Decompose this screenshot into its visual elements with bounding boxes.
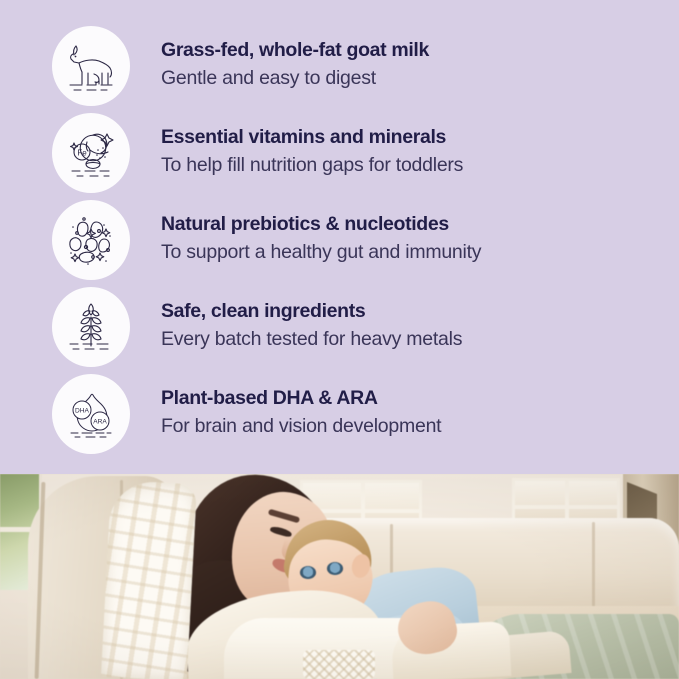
- feature-subtitle: Gentle and easy to digest: [161, 65, 679, 91]
- product-feature-panel: Grass-fed, whole-fat goat milk Gentle an…: [0, 0, 679, 679]
- photo-scene: [0, 474, 679, 679]
- feature-subtitle: To support a healthy gut and immunity: [161, 239, 679, 265]
- cushion-seam: [592, 522, 595, 618]
- feature-title: Grass-fed, whole-fat goat milk: [161, 38, 679, 64]
- feature-text: Safe, clean ingredients Every batch test…: [130, 299, 679, 354]
- feature-row-clean-ingredients: Safe, clean ingredients Every batch test…: [0, 283, 679, 370]
- feature-text: Plant-based DHA & ARA For brain and visi…: [130, 386, 679, 441]
- baby-eye-right: [327, 562, 343, 575]
- lifestyle-photo: [0, 474, 679, 679]
- vitamin-capsules-iron-icon: Fe: [52, 113, 130, 193]
- feature-title: Safe, clean ingredients: [161, 299, 679, 325]
- feature-row-vitamins: Fe Essential vitamins and minerals To he…: [0, 109, 679, 196]
- ara-label: ARA: [93, 418, 107, 425]
- blouse-lace-detail: [303, 650, 375, 679]
- feature-subtitle: Every batch tested for heavy metals: [161, 326, 679, 352]
- goat-icon: [52, 26, 130, 106]
- feature-row-prebiotics: Natural prebiotics & nucleotides To supp…: [0, 196, 679, 283]
- feature-subtitle: To help fill nutrition gaps for toddlers: [161, 152, 679, 178]
- dha-label: DHA: [75, 407, 90, 414]
- feature-text: Essential vitamins and minerals To help …: [130, 125, 679, 180]
- feature-row-goat-milk: Grass-fed, whole-fat goat milk Gentle an…: [0, 22, 679, 109]
- feature-title: Essential vitamins and minerals: [161, 125, 679, 151]
- feature-text: Grass-fed, whole-fat goat milk Gentle an…: [130, 38, 679, 93]
- dha-ara-avocado-icon: DHA ARA: [52, 374, 130, 454]
- iron-symbol-label: Fe: [77, 148, 87, 157]
- feature-title: Natural prebiotics & nucleotides: [161, 212, 679, 238]
- wheat-stalk-icon: [52, 287, 130, 367]
- feature-subtitle: For brain and vision development: [161, 413, 679, 439]
- knit-throw-blanket: [101, 480, 197, 679]
- feature-title: Plant-based DHA & ARA: [161, 386, 679, 412]
- probiotic-bacteria-icon: [52, 200, 130, 280]
- feature-list: Grass-fed, whole-fat goat milk Gentle an…: [0, 0, 679, 474]
- feature-row-dha-ara: DHA ARA Plant-based DHA & ARA For brain …: [0, 370, 679, 457]
- feature-text: Natural prebiotics & nucleotides To supp…: [130, 212, 679, 267]
- baby-eye-left: [300, 566, 316, 579]
